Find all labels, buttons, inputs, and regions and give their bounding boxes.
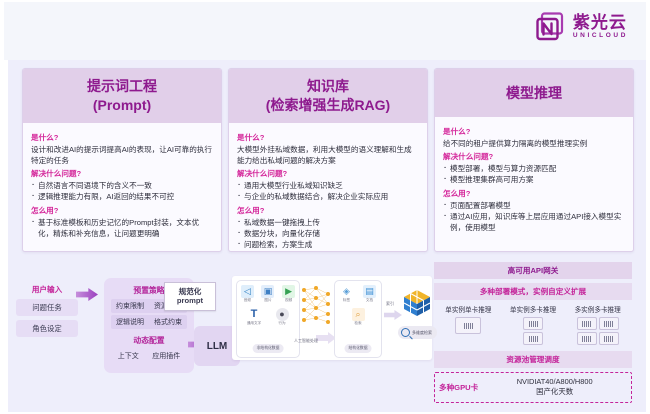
card-body: 是什么? 设计和改进AI的提示词提高AI的表现，让AI可靠的执行特定的任务 解决… (23, 123, 221, 248)
bullet-list: 私域数据一键拖拽上传 数据分块，向量化存储 问题检索，方案生成 (237, 217, 419, 251)
unstructured-data-group: ◁ 音频 ▣ 图片 ▶ 视频 T 通用文字 ● (236, 280, 300, 358)
gpu-chip-icon (577, 332, 597, 345)
normalized-prompt-note: 规范化 prompt (164, 282, 216, 311)
gpu-value: NVIDIAT40/A800/H800 国产化天数 (482, 377, 627, 398)
api-gateway-band: 高可用API网关 (434, 262, 632, 279)
preset-row: 逻辑说明 格式约束 (111, 315, 187, 329)
multi-dim-search-pill: 多维度检索 (398, 326, 437, 339)
unicloud-logo-icon (536, 12, 566, 42)
neural-network-icon (300, 282, 332, 332)
document-icon: ▤ (363, 285, 376, 298)
bullet-list: 通用大模型行业私域知识缺乏 与企业的私域数据结合，解决企业实际应用 (237, 180, 419, 203)
section-text: 设计和改进AI的提示词提高AI的表现，让AI可靠的执行特定的任务 (31, 144, 213, 166)
card-title: 提示词工程 (Prompt) (29, 77, 215, 115)
icon-cell: ▣ 图片 (259, 285, 277, 303)
arrow-right-icon (384, 310, 402, 320)
section-label: 是什么? (31, 132, 213, 143)
magnifier-icon (401, 328, 410, 337)
card-header: 模型推理 (435, 69, 633, 117)
brand-logo: 紫光云 UNICLOUD (536, 12, 628, 42)
card-body: 是什么? 大模型外挂私域数据，利用大模型的语义理解和生成能力给出私域问题的解决方… (229, 123, 427, 252)
icon-caption: 图片 (259, 299, 277, 303)
list-item: 问题检索，方案生成 (237, 239, 419, 250)
card-prompt-engineering: 提示词工程 (Prompt) 是什么? 设计和改进AI的提示词提高AI的表现，让… (22, 68, 222, 252)
dynamic-title: 动态配置 (108, 335, 190, 346)
icon-cell: ▤ 文档 (361, 285, 379, 303)
index-caption: 索引 (386, 301, 394, 307)
section-text: 大模型外挂私域数据，利用大模型的语义理解和生成能力给出私域问题的解决方案 (237, 144, 419, 166)
gpu-chip-icon (577, 317, 597, 330)
list-item: 模型推理集群高可用方案 (443, 174, 625, 185)
brand-name-cn: 紫光云 (573, 14, 628, 31)
card-title-line1: 知识库 (235, 77, 421, 96)
tag-icon: ◈ (340, 285, 353, 298)
bullet-list: 模型部署，模型与算力资源匹配 模型推理集群高可用方案 (443, 163, 625, 186)
preset-cell: 格式约束 (154, 317, 182, 327)
preset-cell: 约束限制 (116, 301, 144, 311)
list-item: 与企业的私域数据结合，解决企业实际应用 (237, 191, 419, 202)
search-pill-label: 多维度检索 (412, 330, 432, 336)
mode-multi-instance-multi-card: 多实例多卡推理 (565, 304, 630, 345)
mode-label: 单实例单卡推理 (436, 304, 501, 314)
gpu-card-box: 多种GPU卡 NVIDIAT40/A800/H800 国产化天数 (434, 372, 632, 403)
dynamic-cell: 应用插件 (152, 351, 180, 361)
card-body: 是什么? 给不同的租户提供算力隔离的模型推理实例 解决什么问题? 模型部署，模型… (435, 117, 633, 242)
resource-pool-band: 资源池管理调度 (434, 351, 632, 368)
prompt-flow-diagram: 用户输入 问题任务 角色设定 预置策略 约束限制 资源说明 逻辑说明 格式约束 … (16, 278, 226, 406)
note-line1: 规范化 (179, 287, 202, 296)
dynamic-row: 上下文 应用插件 (111, 349, 187, 363)
video-icon: ▶ (282, 285, 295, 298)
card-title: 知识库 (检索增强生成RAG) (235, 77, 421, 115)
icon-cell: ▶ 视频 (280, 285, 298, 303)
chip-group (436, 317, 501, 334)
preset-cell: 逻辑说明 (116, 317, 144, 327)
bullet-list: 页面配置部署模型 通过AI应用，知识库等上层应用通过API接入模型实例，使用模型 (443, 200, 625, 234)
section-label: 怎么用? (31, 205, 213, 216)
icon-caption: 通用文字 (245, 322, 263, 326)
image-icon: ▣ (261, 285, 274, 298)
slide-root: 紫光云 UNICLOUD 提示词工程 (Prompt) 是什么? 设计和改进AI… (0, 0, 650, 414)
section-label: 解决什么问题? (443, 151, 625, 162)
list-item: 页面配置部署模型 (443, 200, 625, 211)
icon-row: ◈ 标签 ▤ 文档 (335, 285, 381, 303)
card-header: 提示词工程 (Prompt) (23, 69, 221, 123)
icon-caption: 音频 (238, 299, 256, 303)
icon-row: T 通用文字 ● 行为 (237, 308, 299, 326)
structured-data-group: ◈ 标签 ▤ 文档 ⌕ 检索 结构化数据 (334, 280, 382, 358)
inference-infra-panel: 高可用API网关 多种部署模式，实例自定义扩展 单实例单卡推理 单实例多卡推理 … (434, 262, 632, 403)
audio-icon: ◁ (241, 285, 254, 298)
data-cube-icon (402, 288, 432, 318)
gpu-chip-icon (455, 317, 481, 334)
gpu-chip-icon (523, 317, 543, 330)
arrow-right-icon (316, 332, 336, 344)
ai-processing-caption: 人工智能处理 (294, 338, 318, 344)
icon-row: ◁ 音频 ▣ 图片 ▶ 视频 (237, 285, 299, 303)
card-title: 模型推理 (441, 77, 627, 109)
input-item-role: 角色设定 (16, 320, 78, 337)
section-label: 是什么? (237, 132, 419, 143)
icon-cell: ◁ 音频 (238, 285, 256, 303)
unstructured-tag: 非结构化数据 (253, 344, 284, 353)
right-margin (646, 60, 650, 412)
list-item: 逻辑推理能力有限，AI返回的结果不可控 (31, 191, 213, 202)
card-model-inference: 模型推理 是什么? 给不同的租户提供算力隔离的模型推理实例 解决什么问题? 模型… (434, 68, 634, 252)
note-line2: prompt (177, 296, 203, 305)
section-text: 给不同的租户提供算力隔离的模型推理实例 (443, 138, 625, 149)
list-item: 模型部署，模型与算力资源匹配 (443, 163, 625, 174)
gpu-chip-icon (599, 317, 619, 330)
card-title-line2: (Prompt) (29, 96, 215, 115)
list-item: 基于标准模板和历史记忆的Prompt封装，文本优化，精炼和补充信息，让问题更明确 (31, 217, 213, 240)
text-icon: T (248, 308, 261, 321)
card-knowledge-base: 知识库 (检索增强生成RAG) 是什么? 大模型外挂私域数据，利用大模型的语义理… (228, 68, 428, 252)
section-label: 是什么? (443, 126, 625, 137)
icon-caption: 视频 (280, 299, 298, 303)
gpu-value-line2: 国产化天数 (536, 387, 573, 396)
bullet-list: 自然语言不同语境下的含义不一致 逻辑推理能力有限，AI返回的结果不可控 (31, 180, 213, 203)
icon-cell: ● 行为 (273, 308, 291, 326)
chip-group (577, 317, 619, 345)
icon-caption: 文档 (361, 299, 379, 303)
gpu-chip-icon (599, 332, 619, 345)
brand-name-en: UNICLOUD (573, 33, 628, 40)
section-label: 怎么用? (443, 188, 625, 199)
card-header: 知识库 (检索增强生成RAG) (229, 69, 427, 123)
mode-label: 多实例多卡推理 (565, 304, 630, 314)
icon-row: ⌕ 检索 (335, 308, 381, 326)
user-input-group: 用户输入 问题任务 角色设定 (16, 284, 78, 341)
list-item: 私域数据一键拖拽上传 (237, 217, 419, 228)
deploy-modes: 单实例单卡推理 单实例多卡推理 多实例多卡推理 (434, 304, 632, 345)
gpu-label: 多种GPU卡 (439, 382, 482, 393)
rag-pipeline-diagram: ◁ 音频 ▣ 图片 ▶ 视频 T 通用文字 ● (232, 276, 432, 360)
icon-cell: ◈ 标签 (338, 285, 356, 303)
icon-caption: 行为 (273, 322, 291, 326)
list-item: 通过AI应用，知识库等上层应用通过API接入模型实例，使用模型 (443, 211, 625, 234)
card-title-line1: 提示词工程 (29, 77, 215, 96)
icon-cell: ⌕ 检索 (349, 308, 367, 326)
card-title-line1: 模型推理 (441, 84, 627, 103)
icon-caption: 标签 (338, 299, 356, 303)
mode-label: 单实例多卡推理 (501, 304, 566, 314)
structured-tag: 结构化数据 (345, 344, 372, 353)
person-icon: ● (276, 308, 289, 321)
section-label: 解决什么问题? (237, 168, 419, 179)
list-item: 数据分块，向量化存储 (237, 228, 419, 239)
input-item-task: 问题任务 (16, 299, 78, 316)
mode-single-instance-multi-card: 单实例多卡推理 (501, 304, 566, 345)
card-title-line2: (检索增强生成RAG) (235, 96, 421, 115)
gpu-value-line1: NVIDIAT40/A800/H800 (517, 377, 593, 386)
chip-group (501, 317, 566, 345)
left-margin (0, 60, 8, 412)
list-item: 自然语言不同语境下的含义不一致 (31, 180, 213, 191)
dynamic-cell: 上下文 (118, 351, 139, 361)
mode-single-instance-single-card: 单实例单卡推理 (436, 304, 501, 345)
section-label: 解决什么问题? (31, 168, 213, 179)
bullet-list: 基于标准模板和历史记忆的Prompt封装，文本优化，精炼和补充信息，让问题更明确 (31, 217, 213, 240)
list-item: 通用大模型行业私域知识缺乏 (237, 180, 419, 191)
icon-caption: 检索 (349, 322, 367, 326)
icon-cell: T 通用文字 (245, 308, 263, 326)
section-label: 怎么用? (237, 205, 419, 216)
search-doc-icon: ⌕ (352, 308, 365, 321)
user-input-heading: 用户输入 (16, 284, 78, 295)
deploy-mode-band: 多种部署模式，实例自定义扩展 (434, 283, 632, 300)
gpu-chip-icon (523, 332, 543, 345)
